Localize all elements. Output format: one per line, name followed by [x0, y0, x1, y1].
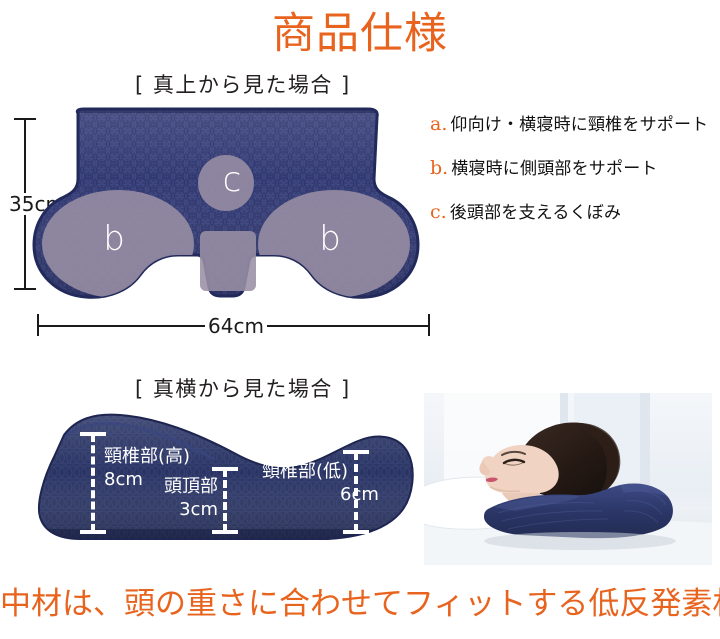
- side-dim-cap-bottom-3: [343, 530, 369, 534]
- zone-b-right: [258, 190, 410, 298]
- width-dim-label: 64cm: [205, 315, 267, 337]
- legend-text-a: 仰向け・横寝時に頸椎をサポート: [450, 113, 708, 137]
- legend-key-a: a.: [430, 112, 447, 136]
- side-view-diagram: 頸椎部(高) 8cm 頭頂部 3cm 頸椎部(低) 6cm: [0, 405, 430, 570]
- footer-text: 中材は、頭の重さに合わせてフィットする低反発素材です。: [0, 583, 720, 625]
- side-dim-label-2: 頭頂部 3cm: [156, 475, 218, 521]
- side-dim-line-1: [91, 434, 95, 532]
- width-dim-cap-right: [428, 314, 430, 336]
- legend-item-b: b. 横寝時に側頭部をサポート: [430, 156, 718, 181]
- legend-text-c: 後頭部を支えるくぼみ: [450, 201, 622, 225]
- side-dim-line-2: [223, 469, 227, 532]
- side-dim-value-3: 6cm: [340, 483, 379, 506]
- pillow-top-view-shape: [30, 105, 422, 315]
- zone-b-left: [42, 190, 194, 298]
- side-dim-cap-bottom-2: [212, 530, 238, 534]
- woman-lying-on-pillow-photo: [424, 393, 712, 565]
- page-title: 商品仕様: [0, 8, 720, 60]
- side-dim-cap-bottom-1: [80, 530, 106, 534]
- side-dim-value-2: 3cm: [156, 498, 218, 521]
- legend-item-a: a. 仰向け・横寝時に頸椎をサポート: [430, 112, 718, 137]
- zone-label-a: a: [218, 338, 258, 372]
- side-dim-label-3: 頸椎部(低) 6cm: [262, 460, 379, 506]
- top-view-diagram: 35cm: [0, 100, 440, 350]
- side-view-header: [ 真横から見た場合 ]: [135, 376, 351, 402]
- legend: a. 仰向け・横寝時に頸椎をサポート b. 横寝時に側頭部をサポート c. 後頭…: [430, 112, 718, 244]
- top-view-header: [ 真上から見た場合 ]: [135, 72, 351, 98]
- side-dim-name-3: 頸椎部(低): [262, 461, 348, 482]
- product-spec-page: 商品仕様 [ 真上から見た場合 ] 35cm: [0, 0, 720, 639]
- zone-a: [200, 231, 256, 291]
- legend-key-c: c.: [430, 200, 447, 224]
- legend-key-b: b.: [430, 156, 448, 180]
- legend-text-b: 横寝時に側頭部をサポート: [451, 157, 657, 181]
- legend-item-c: c. 後頭部を支えるくぼみ: [430, 200, 718, 225]
- side-dim-name-2: 頭頂部: [164, 476, 218, 497]
- photo-illustration: [424, 393, 712, 565]
- side-dim-name-1: 頸椎部(高): [104, 446, 190, 467]
- zone-c: [198, 155, 254, 211]
